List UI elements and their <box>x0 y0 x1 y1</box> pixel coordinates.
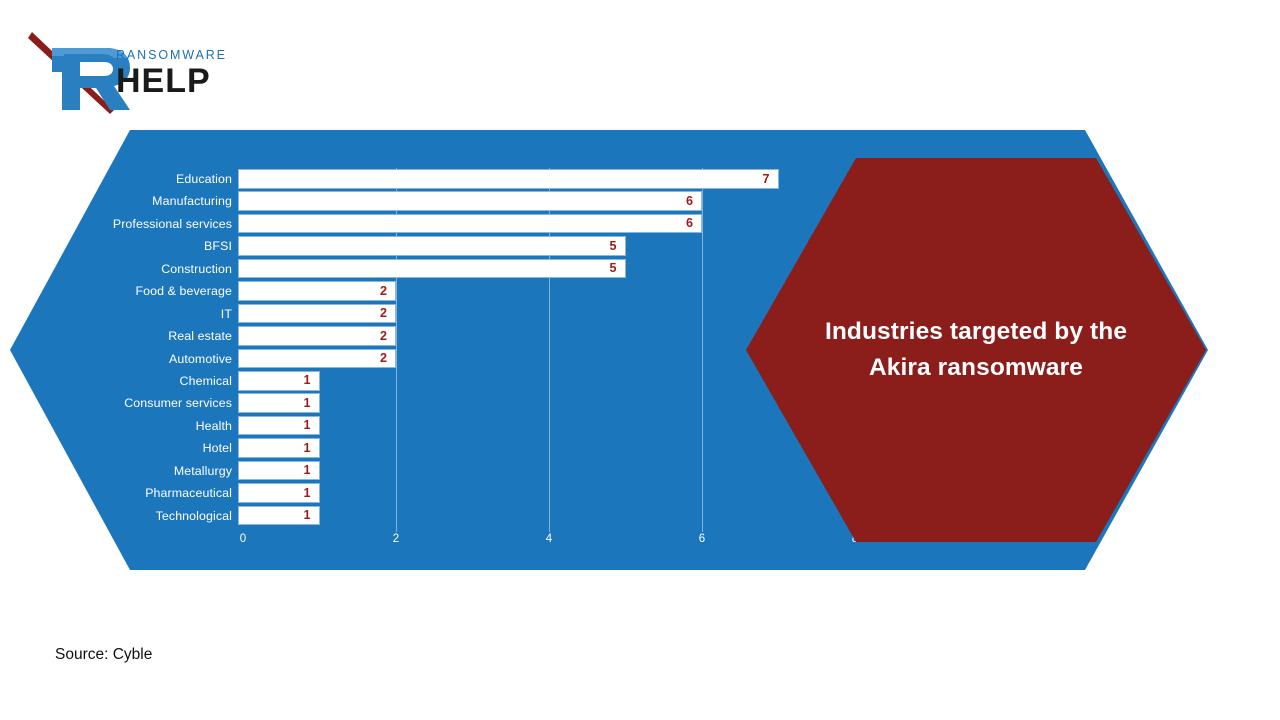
chart-bar[interactable]: 1 <box>238 393 320 413</box>
chart-row-label: Chemical <box>0 375 238 387</box>
chart-row: Pharmaceutical1 <box>0 482 800 504</box>
chart-title: Industries targeted by the Akira ransomw… <box>776 314 1176 385</box>
logo-wordmark-bottom: HELP <box>116 62 211 101</box>
chart-bar-track: 2 <box>238 325 800 347</box>
chart-bar-track: 6 <box>238 190 800 212</box>
chart-row: Manufacturing6 <box>0 190 800 212</box>
chart-row: Food & beverage2 <box>0 280 800 302</box>
chart-title-line2: Akira ransomware <box>869 354 1083 381</box>
bar-chart: Education7Manufacturing6Professional ser… <box>0 168 800 548</box>
chart-bar-track: 5 <box>238 235 800 257</box>
chart-bar[interactable]: 2 <box>238 326 396 346</box>
chart-bar-track: 2 <box>238 280 800 302</box>
chart-bar-value: 2 <box>380 330 395 343</box>
chart-row-label: Professional services <box>0 218 238 230</box>
chart-bar-track: 2 <box>238 303 800 325</box>
chart-row: Hotel1 <box>0 437 800 459</box>
chart-row-label: Education <box>0 173 238 185</box>
chart-row: Real estate2 <box>0 325 800 347</box>
chart-bar-value: 5 <box>609 262 624 275</box>
chart-bar[interactable]: 1 <box>238 461 320 481</box>
chart-bar[interactable]: 1 <box>238 371 320 391</box>
chart-bar[interactable]: 6 <box>238 191 702 211</box>
chart-row-label: Construction <box>0 263 238 275</box>
chart-row-label: Pharmaceutical <box>0 487 238 499</box>
chart-row: IT2 <box>0 303 800 325</box>
chart-row-label: Hotel <box>0 442 238 454</box>
chart-x-tick: 2 <box>393 534 399 546</box>
chart-bar-track: 1 <box>238 460 800 482</box>
chart-row-label: Health <box>0 420 238 432</box>
chart-row-label: Automotive <box>0 353 238 365</box>
chart-row-label: Manufacturing <box>0 195 238 207</box>
chart-bar-value: 1 <box>303 442 318 455</box>
chart-x-tick: 4 <box>546 534 552 546</box>
chart-x-tick: 6 <box>699 534 705 546</box>
chart-bar[interactable]: 2 <box>238 281 396 301</box>
chart-row: Consumer services1 <box>0 392 800 414</box>
chart-bar-track: 1 <box>238 370 800 392</box>
chart-bar[interactable]: 2 <box>238 304 396 324</box>
chart-bar-track: 5 <box>238 258 800 280</box>
chart-row-label: Consumer services <box>0 397 238 409</box>
chart-bar-track: 7 <box>238 168 800 190</box>
chart-bar-value: 2 <box>380 352 395 365</box>
chart-bar[interactable]: 5 <box>238 259 626 279</box>
chart-row: Metallurgy1 <box>0 460 800 482</box>
chart-row: Technological1 <box>0 505 800 527</box>
chart-row: BFSI5 <box>0 235 800 257</box>
chart-bar-value: 1 <box>303 374 318 387</box>
chart-rows: Education7Manufacturing6Professional ser… <box>0 168 800 527</box>
chart-bar-track: 1 <box>238 415 800 437</box>
chart-bar-value: 6 <box>686 195 701 208</box>
chart-bar-value: 7 <box>762 173 777 186</box>
chart-bar[interactable]: 1 <box>238 438 320 458</box>
chart-x-axis: 02468 <box>0 534 900 556</box>
chart-row-label: BFSI <box>0 240 238 252</box>
chart-bar[interactable]: 1 <box>238 483 320 503</box>
chart-row: Automotive2 <box>0 348 800 370</box>
chart-row-label: Technological <box>0 510 238 522</box>
chart-bar[interactable]: 1 <box>238 416 320 436</box>
chart-bar-value: 1 <box>303 509 318 522</box>
brand-logo: RANSOMWARE HELP <box>18 26 248 116</box>
chart-bar-track: 1 <box>238 437 800 459</box>
chart-bar[interactable]: 5 <box>238 236 626 256</box>
chart-bar-value: 2 <box>380 285 395 298</box>
chart-bar-track: 1 <box>238 392 800 414</box>
chart-bar-value: 2 <box>380 307 395 320</box>
chart-bar[interactable]: 1 <box>238 506 320 526</box>
logo-wordmark-top: RANSOMWARE <box>116 48 227 62</box>
chart-bar-value: 6 <box>686 217 701 230</box>
chart-row: Construction5 <box>0 258 800 280</box>
chart-bar-track: 1 <box>238 505 800 527</box>
chart-bar-track: 6 <box>238 213 800 235</box>
chart-row: Chemical1 <box>0 370 800 392</box>
chart-bar-value: 1 <box>303 397 318 410</box>
chart-row-label: IT <box>0 308 238 320</box>
chart-row-label: Food & beverage <box>0 285 238 297</box>
chart-bar[interactable]: 2 <box>238 349 396 369</box>
chart-bar-value: 1 <box>303 487 318 500</box>
chart-bar-value: 1 <box>303 464 318 477</box>
chart-bar[interactable]: 7 <box>238 169 779 189</box>
chart-row: Professional services6 <box>0 213 800 235</box>
chart-row-label: Real estate <box>0 330 238 342</box>
chart-x-tick: 0 <box>240 534 246 546</box>
chart-bar-track: 1 <box>238 482 800 504</box>
chart-title-line1: Industries targeted by the <box>825 318 1127 345</box>
source-note: Source: Cyble <box>55 647 152 663</box>
chart-bar-value: 5 <box>609 240 624 253</box>
chart-row-label: Metallurgy <box>0 465 238 477</box>
chart-bar-value: 1 <box>303 419 318 432</box>
chart-row: Education7 <box>0 168 800 190</box>
chart-row: Health1 <box>0 415 800 437</box>
chart-bar[interactable]: 6 <box>238 214 702 234</box>
chart-bar-track: 2 <box>238 348 800 370</box>
